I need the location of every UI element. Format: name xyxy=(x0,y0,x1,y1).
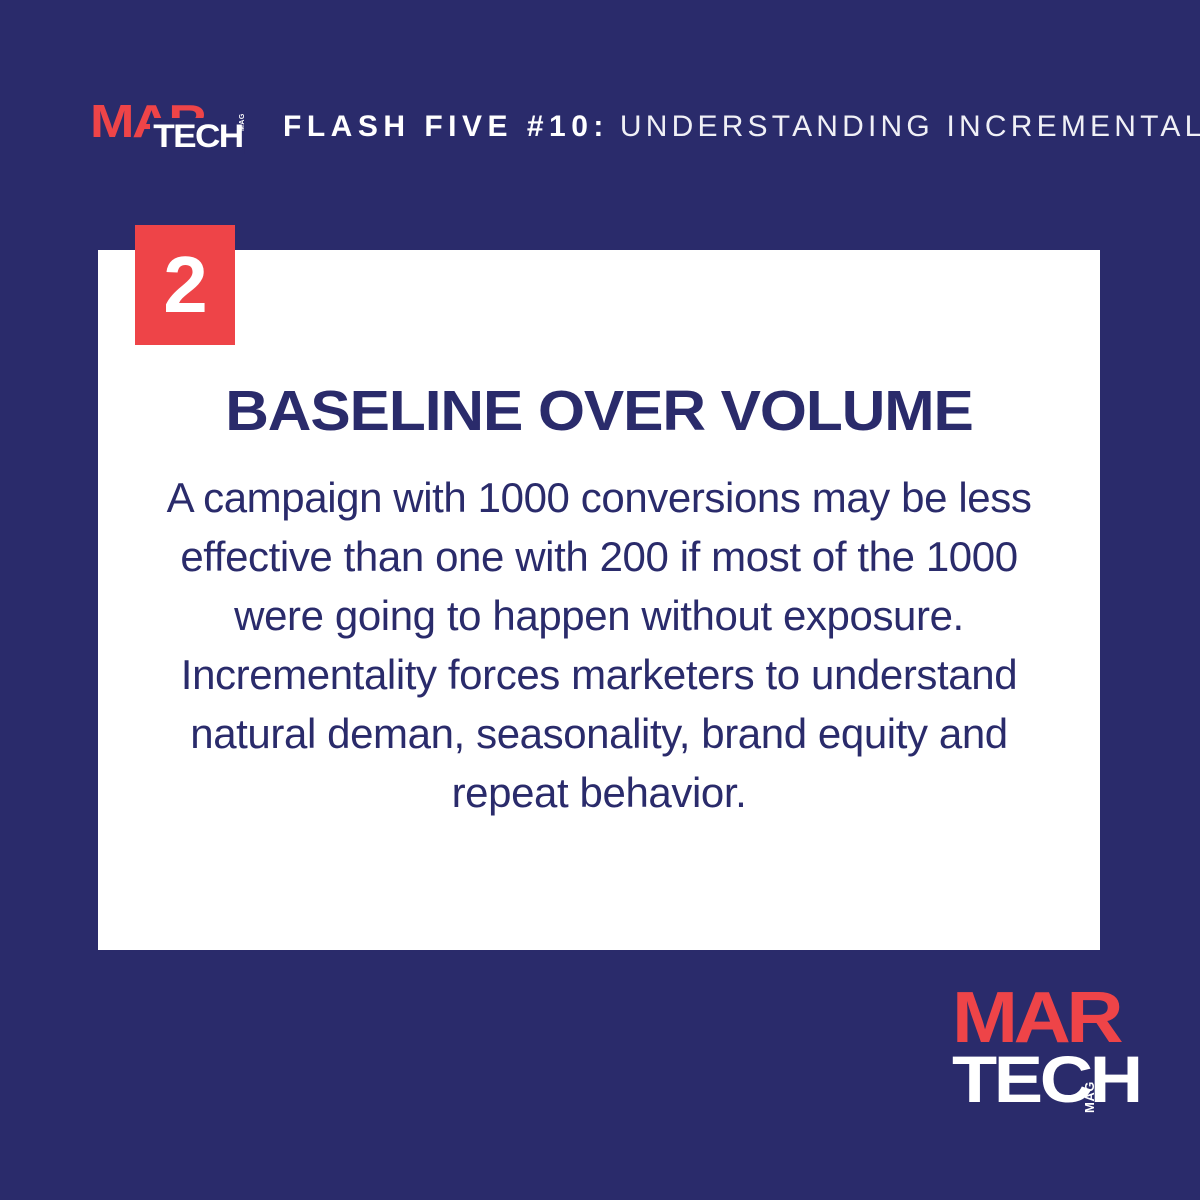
header-bar: MAR TECH MAG FLASH FIVE #10: UNDERSTANDI… xyxy=(0,96,1200,158)
header-logo[interactable]: MAR TECH MAG xyxy=(90,98,265,156)
footer-logo-tech-text: TECH xyxy=(952,1046,1140,1112)
footer-logo-mag-text: MAG xyxy=(1083,1081,1096,1113)
header-logo-mag-text: MAG xyxy=(239,113,246,131)
footer-logo[interactable]: MAR TECH MAG xyxy=(952,982,1112,1114)
step-number-badge: 2 xyxy=(135,225,235,345)
card-title: BASELINE OVER VOLUME xyxy=(98,380,1101,442)
header-logo-tech-text: TECH xyxy=(150,118,245,154)
slide-canvas: { "theme": { "background": "#2a2b6b", "a… xyxy=(0,0,1200,1200)
header-series-label: FLASH FIVE #10: xyxy=(283,110,609,144)
card-inner: BASELINE OVER VOLUME A campaign with 100… xyxy=(98,250,1100,950)
header-topic-label: UNDERSTANDING INCREMENTALITY xyxy=(620,110,1200,144)
content-card: BASELINE OVER VOLUME A campaign with 100… xyxy=(98,250,1100,950)
card-body-text: A campaign with 1000 conversions may be … xyxy=(126,468,1072,822)
